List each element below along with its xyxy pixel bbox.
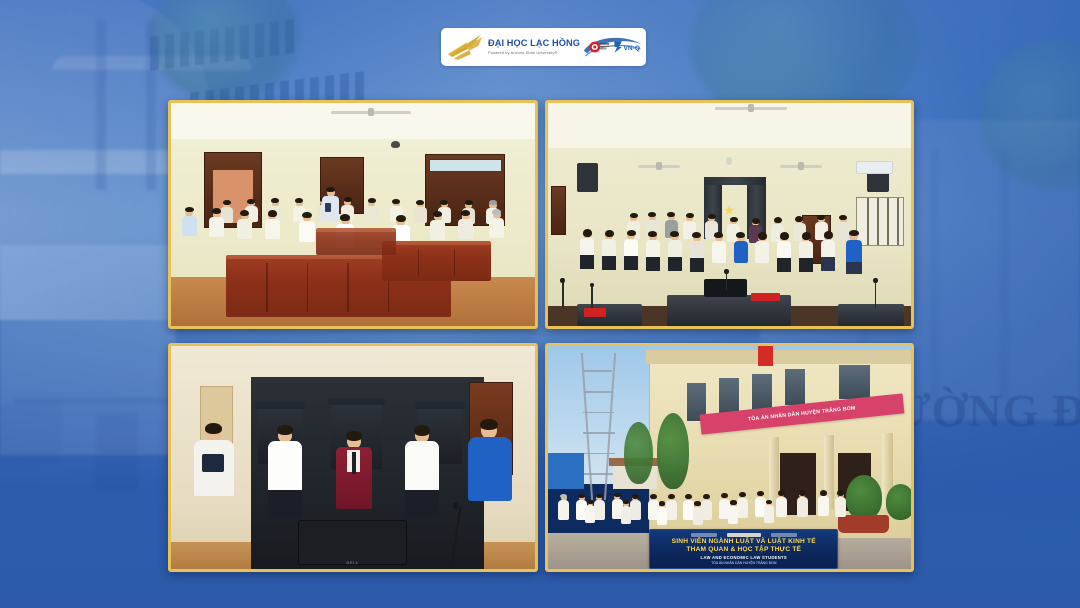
vn-qa-icon: VN-QA: [612, 38, 640, 56]
bench-header: [704, 177, 766, 186]
ceiling-fan-icon: [331, 111, 411, 114]
tree: [624, 422, 653, 484]
tree: [657, 413, 690, 489]
topiary-shrub: [886, 484, 911, 520]
air-conditioner-icon: [856, 161, 892, 174]
national-flag: [758, 346, 773, 366]
courtroom-desk: [838, 304, 903, 326]
ceiling-light-icon: [726, 157, 732, 165]
event-banner: SINH VIÊN NGÀNH LUẬT VÀ LUẬT KINH TẾ THA…: [649, 529, 838, 569]
microphone-icon: [875, 281, 877, 308]
banner-logo-row: [691, 533, 797, 537]
photo-1-scene: [171, 103, 535, 326]
ceiling-fan-icon: [715, 107, 787, 110]
banner-logo-center-icon: [727, 533, 761, 537]
security-camera-icon: [391, 141, 400, 148]
courtroom-audience-photo[interactable]: [168, 100, 538, 329]
desk-monitor: [298, 520, 407, 565]
ceiling-fan-icon: [780, 165, 822, 168]
courthouse-exterior-photo[interactable]: TÒA ÁN NHÂN DÂN HUYỆN TRẢNG BOM: [545, 343, 915, 572]
building-window: [838, 364, 871, 400]
photo-2-scene: [548, 103, 912, 326]
lac-hong-bird-mark-icon: [445, 32, 485, 62]
judge-bench-students-photo[interactable]: [168, 343, 538, 572]
photo-grid: TÒA ÁN NHÂN DÂN HUYỆN TRẢNG BOM: [168, 100, 914, 572]
name-plate: [751, 293, 780, 302]
microphone-icon: [591, 286, 593, 308]
logo-left-group: ĐẠI HỌC LẠC HỒNG Powered by Arizona Stat…: [445, 32, 584, 62]
name-plate: [584, 308, 606, 317]
quality-seal-icon: [588, 38, 610, 56]
microphone-icon: [562, 281, 564, 308]
building-window: [784, 368, 806, 406]
transom-window: [429, 159, 502, 172]
microphone-icon: [726, 272, 728, 290]
svg-text:VN-QA: VN-QA: [624, 45, 640, 52]
side-structure: [548, 453, 584, 489]
ceiling-fan-icon: [638, 165, 680, 168]
banner-line-2: THAM QUAN & HỌC TẬP THỰC TẾ: [686, 546, 801, 554]
background-building-railing: [0, 404, 62, 464]
university-logo-bar: ĐẠI HỌC LẠC HỒNG Powered by Arizona Stat…: [441, 28, 646, 66]
courtroom-group-photo[interactable]: [545, 100, 915, 329]
courtroom-bench: [382, 241, 491, 281]
wall-speaker-icon: [577, 163, 599, 192]
photo-3-scene: [171, 346, 535, 569]
banner-logo-right-icon: [771, 533, 797, 537]
university-tagline: Powered by Arizona State University®: [488, 51, 580, 55]
background-building-panel: [96, 412, 138, 490]
side-door: [551, 186, 566, 235]
accreditation-badges: VN-QA: [588, 38, 640, 56]
courthouse-sign-text: TÒA ÁN NHÂN DÂN HUYỆN TRẢNG BOM: [748, 405, 856, 422]
banner-logo-left-icon: [691, 533, 717, 537]
banner-line-1: SINH VIÊN NGÀNH LUẬT VÀ LUẬT KINH TẾ: [672, 538, 816, 546]
banner-line-3: LAW AND ECONOMIC LAW STUDENTS: [701, 555, 787, 560]
microphone-head-icon: [453, 502, 458, 509]
university-name: ĐẠI HỌC LẠC HỒNG: [488, 39, 580, 48]
photo-4-scene: TÒA ÁN NHÂN DÂN HUYỆN TRẢNG BOM: [548, 346, 912, 569]
banner-line-4: TÒA ÁN NHÂN DÂN HUYỆN TRẢNG BOM: [711, 561, 776, 565]
courthouse-roofline: [646, 350, 911, 363]
courtroom-bench: [316, 228, 396, 255]
logo-text-block: ĐẠI HỌC LẠC HỒNG Powered by Arizona Stat…: [488, 39, 580, 54]
building-window: [751, 373, 773, 411]
